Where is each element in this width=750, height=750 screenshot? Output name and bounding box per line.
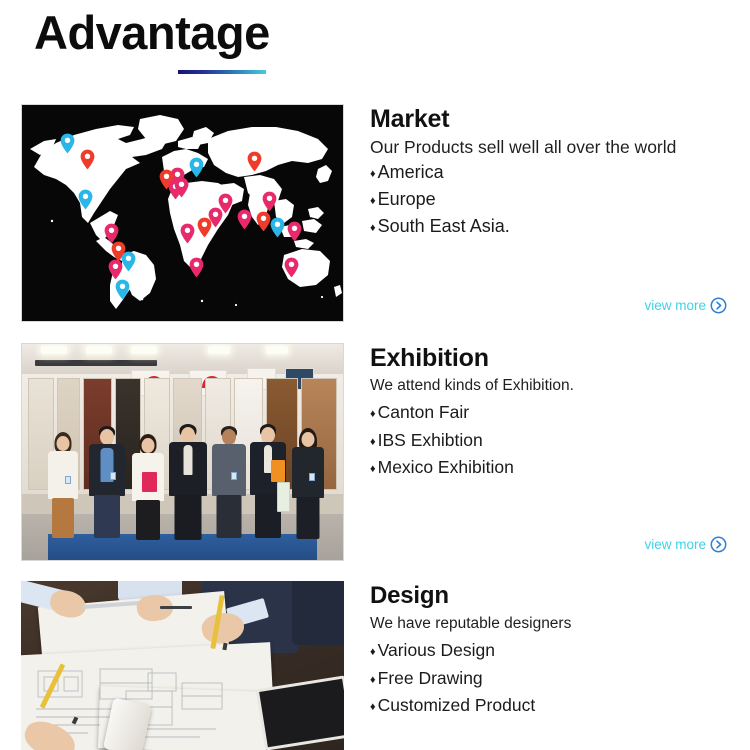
section-title-exhibition: Exhibition: [370, 343, 738, 373]
person: [288, 428, 328, 544]
map-pin-cyan: [60, 133, 75, 154]
section-market: Market Our Products sell well all over t…: [0, 104, 750, 322]
view-more-label: view more: [644, 537, 706, 553]
diamond-bullet-icon: ♦: [370, 668, 376, 693]
diamond-bullet-icon: ♦: [370, 695, 376, 720]
advantage-page: Advantage: [0, 0, 750, 750]
ceiling-light: [41, 346, 67, 354]
chevron-right-circle-icon[interactable]: [710, 297, 727, 314]
map-pin-cyan: [270, 217, 285, 238]
list-item: ♦ Europe: [370, 187, 738, 214]
person: [128, 434, 168, 544]
suit-torso: [292, 581, 344, 645]
map-pin-red: [256, 211, 271, 232]
pen: [160, 606, 192, 609]
section-subtitle-exhibition: We attend kinds of Exhibition.: [370, 375, 738, 397]
list-item-label: Various Design: [378, 638, 495, 663]
section-title-market: Market: [370, 104, 738, 134]
view-more-label: view more: [644, 298, 706, 314]
ceiling-beam: [35, 360, 157, 366]
title-underline-accent: [178, 70, 266, 74]
map-pin-red: [80, 149, 95, 170]
section-design: Design We have reputable designers ♦ Var…: [0, 581, 750, 750]
map-pin-cyan: [121, 251, 136, 272]
exhibition-bullet-list: ♦ Canton Fair ♦ IBS Exhibtion ♦ Mexico E…: [370, 400, 738, 483]
design-team-photo: [21, 581, 344, 750]
view-more-link-exhibition[interactable]: view more: [644, 536, 727, 553]
map-canvas: [22, 105, 343, 321]
page-title: Advantage: [34, 2, 374, 64]
world-map-image: [21, 104, 344, 322]
diamond-bullet-icon: ♦: [370, 216, 376, 240]
section-exhibition: Exhibition We attend kinds of Exhibition…: [0, 343, 750, 561]
list-item-label: Free Drawing: [378, 666, 483, 691]
diamond-bullet-icon: ♦: [370, 430, 376, 455]
person: [44, 432, 82, 544]
page-header: Advantage: [34, 2, 374, 86]
ceiling-light: [208, 346, 230, 354]
person: [86, 426, 128, 544]
list-item-label: Customized Product: [378, 693, 536, 718]
diamond-bullet-icon: ♦: [370, 402, 376, 427]
map-pin-pink: [189, 257, 204, 278]
map-pin-cyan: [115, 279, 130, 300]
person: [247, 424, 289, 544]
list-item-label: Canton Fair: [378, 400, 469, 425]
tablet-device: [256, 675, 344, 750]
map-pin-pink: [237, 209, 252, 230]
map-pin-cyan: [78, 189, 93, 210]
list-item-label: Mexico Exhibition: [378, 455, 514, 480]
section-subtitle-market: Our Products sell well all over the worl…: [370, 136, 738, 159]
market-text-column: Market Our Products sell well all over t…: [370, 104, 738, 322]
map-pin-pink: [284, 257, 299, 278]
list-item-label: America: [378, 160, 444, 184]
diamond-bullet-icon: ♦: [370, 189, 376, 213]
section-subtitle-design: We have reputable designers: [370, 613, 738, 635]
ceiling-light: [86, 346, 112, 354]
ceiling-light: [131, 346, 157, 354]
view-more-link-market[interactable]: view more: [644, 297, 727, 314]
map-pin-pink: [262, 191, 277, 212]
list-item: ♦ South East Asia.: [370, 214, 738, 241]
chevron-right-circle-icon[interactable]: [710, 536, 727, 553]
map-pin-cyan: [189, 157, 204, 178]
exhibition-booth-photo: [21, 343, 344, 561]
list-item: ♦ America: [370, 160, 738, 187]
map-pin-pink: [174, 177, 189, 198]
list-item: ♦ Canton Fair: [370, 400, 738, 428]
list-item-label: South East Asia.: [378, 214, 510, 238]
list-item-label: IBS Exhibtion: [378, 428, 483, 453]
list-item: ♦ Customized Product: [370, 693, 738, 721]
list-item: ♦ Mexico Exhibition: [370, 455, 738, 483]
section-title-design: Design: [370, 581, 738, 611]
diamond-bullet-icon: ♦: [370, 162, 376, 186]
map-pin-pink: [287, 221, 302, 242]
list-item: ♦ Free Drawing: [370, 666, 738, 694]
design-text-column: Design We have reputable designers ♦ Var…: [370, 581, 738, 750]
list-item: ♦ IBS Exhibtion: [370, 428, 738, 456]
design-bullet-list: ♦ Various Design ♦ Free Drawing ♦ Custom…: [370, 638, 738, 721]
person: [208, 426, 250, 544]
map-pin-pink: [180, 223, 195, 244]
market-bullet-list: ♦ America ♦ Europe ♦ South East Asia.: [370, 160, 738, 241]
exhibition-scene: [22, 344, 343, 560]
ceiling-light: [266, 346, 288, 354]
map-pin-red: [247, 151, 262, 172]
design-scene: [21, 581, 344, 750]
diamond-bullet-icon: ♦: [370, 640, 376, 665]
exhibition-text-column: Exhibition We attend kinds of Exhibition…: [370, 343, 738, 561]
diamond-bullet-icon: ♦: [370, 457, 376, 482]
list-item: ♦ Various Design: [370, 638, 738, 666]
list-item-label: Europe: [378, 187, 436, 211]
person: [166, 424, 210, 544]
map-pin-red: [197, 217, 212, 238]
